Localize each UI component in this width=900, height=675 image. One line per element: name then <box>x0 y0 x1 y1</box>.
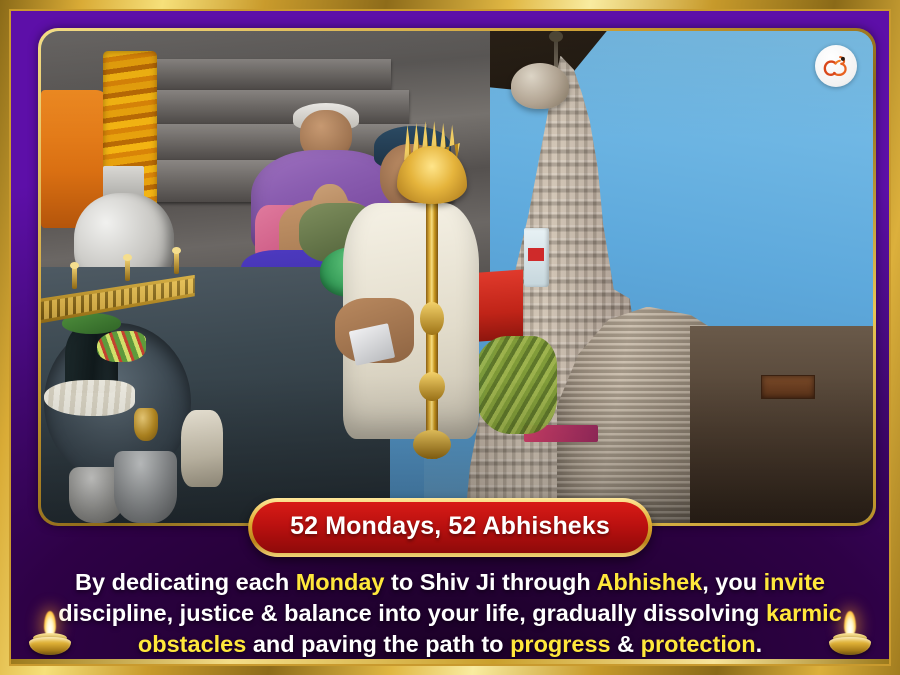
diya-bowl <box>829 637 871 655</box>
cloth-bundle <box>181 410 223 487</box>
hero-photo-canvas <box>41 31 873 523</box>
green-leaves <box>474 336 557 434</box>
steel-vessel <box>114 451 177 523</box>
shiva-lingam-area <box>41 267 390 523</box>
lamp-knob <box>419 372 445 401</box>
description-highlight: progress <box>510 631 611 657</box>
headline-title: 52 Mondays, 52 Abhisheks <box>290 512 610 541</box>
temple-dome <box>511 63 569 109</box>
description-highlight: protection <box>641 631 756 657</box>
description-plain: and paving the path to <box>246 631 510 657</box>
description-plain: . <box>756 631 763 657</box>
description-rich: By dedicating each Monday to Shiv Ji thr… <box>58 569 842 657</box>
water-bottle <box>524 228 549 287</box>
bottom-gold-divider <box>11 659 889 664</box>
poster-frame: 52 Mondays, 52 Abhisheks By dedicating e… <box>9 9 891 666</box>
brass-oil-lamp <box>403 95 461 459</box>
railing-post <box>174 252 179 274</box>
diya-lamp-right <box>827 605 873 655</box>
diya-bowl <box>29 637 71 655</box>
description-plain: to Shiv Ji through <box>385 569 597 595</box>
temple-wall-plaque <box>761 375 815 399</box>
description-plain: By dedicating each <box>75 569 296 595</box>
step-1 <box>140 59 392 90</box>
description-highlight: Abhishek <box>596 569 702 595</box>
description-text: By dedicating each Monday to Shiv Ji thr… <box>11 567 889 660</box>
diya-lamp-left <box>27 605 73 655</box>
description-plain: , you <box>702 569 763 595</box>
description-plain: discipline, justice & balance into your … <box>58 600 766 626</box>
description-highlight: Monday <box>296 569 385 595</box>
lamp-base <box>413 430 450 459</box>
temple-wall <box>690 326 873 523</box>
railing-post <box>72 267 77 289</box>
headline-banner-inner: 52 Mondays, 52 Abhisheks <box>252 502 648 553</box>
description-highlight: invite <box>764 569 825 595</box>
poster-root: 52 Mondays, 52 Abhisheks By dedicating e… <box>0 0 900 675</box>
railing-post <box>125 259 130 281</box>
headline-banner: 52 Mondays, 52 Abhisheks <box>248 498 652 557</box>
lamp-knob <box>420 302 443 335</box>
hero-photo <box>38 28 876 526</box>
brand-logo-badge[interactable] <box>815 45 857 87</box>
flower-offerings <box>97 331 146 362</box>
brass-abhishek-pot <box>134 408 158 441</box>
om-symbol-icon <box>821 51 851 81</box>
description-plain: & <box>611 631 641 657</box>
white-flower-garland <box>44 380 135 416</box>
